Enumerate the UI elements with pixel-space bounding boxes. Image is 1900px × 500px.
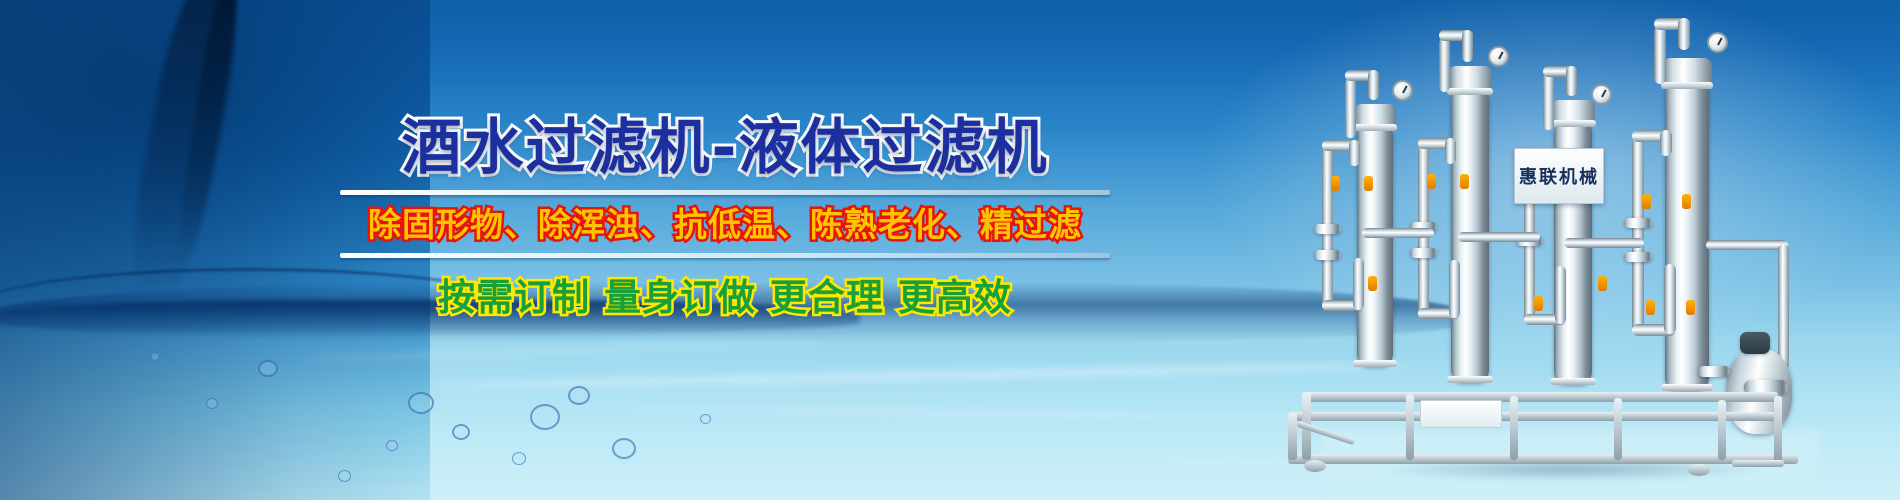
machine-info-label	[1420, 400, 1502, 428]
bubbles-icon	[452, 424, 470, 440]
frame-leg	[1288, 412, 1297, 460]
bubbles-icon	[338, 470, 351, 482]
valve-handle-icon	[1534, 296, 1543, 311]
valve-handle-icon	[1646, 300, 1655, 315]
riser-pipe	[1632, 138, 1644, 286]
tagline-text: 按需订制 量身订做 更合理 更高效	[438, 278, 1012, 319]
caster-wheel	[1304, 460, 1326, 472]
vessel-flange	[1550, 120, 1596, 127]
inlet-pipe	[1462, 30, 1473, 62]
inlet-pipe	[1439, 38, 1450, 92]
valve-handle-icon	[1460, 174, 1469, 189]
bubbles-icon	[512, 452, 526, 465]
pipe-tee	[1314, 224, 1341, 234]
inlet-pipe	[1345, 78, 1356, 138]
pipe-tee	[1624, 218, 1652, 228]
outlet-pipe	[1706, 240, 1788, 250]
riser-pipe	[1418, 146, 1429, 280]
divider-bottom	[340, 253, 1110, 258]
pump-motor	[1740, 332, 1770, 354]
bubbles-icon	[408, 392, 434, 414]
frame-rail-top	[1302, 392, 1778, 402]
gauge-icon	[1488, 46, 1509, 67]
vessel-flange	[1550, 378, 1596, 385]
vessel-flange	[1661, 82, 1713, 89]
filter-vessel	[1357, 126, 1393, 366]
inlet-pipe	[1566, 66, 1577, 96]
u-bend-pipe	[1555, 266, 1566, 324]
valve-handle-icon	[1364, 176, 1373, 191]
bubbles-icon	[206, 398, 218, 409]
cross-pipe	[1458, 232, 1540, 242]
filtration-machine: 惠联机械	[1258, 8, 1858, 488]
gauge-icon	[1392, 80, 1413, 101]
valve-handle-icon	[1427, 174, 1436, 189]
frame-leg	[1614, 398, 1622, 460]
vessel-flange	[1447, 88, 1493, 95]
frame-leg	[1510, 396, 1518, 460]
tagline: 按需订制 量身订做 更合理 更高效	[330, 278, 1120, 319]
inlet-pipe	[1543, 74, 1554, 130]
cross-pipe	[1564, 238, 1644, 248]
valve-handle-icon	[1682, 194, 1691, 209]
pipe-tee	[1314, 250, 1341, 260]
promo-banner: 酒水过滤机-液体过滤机 除固形物、除浑浊、抗低温、陈熟老化、精过滤 按需订制 量…	[0, 0, 1900, 500]
bubbles-icon	[258, 360, 278, 377]
feature-list: 除固形物、除浑浊、抗低温、陈熟老化、精过滤	[330, 207, 1120, 243]
bubbles-icon	[612, 438, 636, 459]
vessel-flange	[1661, 384, 1713, 391]
u-bend-pipe	[1449, 260, 1460, 318]
riser-pipe	[1349, 140, 1360, 166]
riser-pipe	[1445, 138, 1456, 164]
frame-foot	[1732, 460, 1784, 467]
inlet-pipe	[1678, 18, 1690, 50]
vessel-flange	[1353, 124, 1397, 131]
feature-list-text: 除固形物、除浑浊、抗低温、陈熟老化、精过滤	[368, 207, 1082, 243]
bubbles-icon	[150, 352, 160, 361]
inlet-pipe	[1654, 26, 1666, 84]
frame-leg	[1406, 394, 1414, 460]
pipe-tee	[1410, 248, 1437, 258]
bubbles-icon	[568, 386, 590, 405]
outlet-pipe	[1778, 244, 1789, 370]
page-title-text: 酒水过滤机-液体过滤机	[402, 118, 1049, 178]
pump-inlet	[1698, 366, 1730, 377]
vessel-flange	[1447, 376, 1493, 383]
u-bend-pipe	[1353, 258, 1364, 310]
filter-vessel	[1665, 84, 1709, 390]
frame-rail-front	[1288, 412, 1782, 421]
gauge-icon	[1707, 32, 1728, 53]
vessel-flange	[1353, 360, 1397, 367]
headline-block: 酒水过滤机-液体过滤机 除固形物、除浑浊、抗低温、陈熟老化、精过滤 按需订制 量…	[330, 118, 1120, 319]
machine-brand-sign-text: 惠联机械	[1519, 163, 1599, 189]
u-bend-pipe	[1664, 264, 1676, 334]
valve-handle-icon	[1686, 300, 1695, 315]
cross-pipe	[1362, 228, 1434, 238]
machine-brand-sign: 惠联机械	[1514, 148, 1604, 204]
frame-leg	[1718, 400, 1726, 460]
valve-handle-icon	[1368, 276, 1377, 291]
gauge-icon	[1591, 84, 1612, 105]
valve-handle-icon	[1642, 194, 1651, 209]
page-title: 酒水过滤机-液体过滤机	[330, 118, 1120, 178]
valve-handle-icon	[1331, 176, 1340, 191]
inlet-pipe	[1368, 70, 1379, 100]
bubbles-icon	[386, 440, 398, 451]
bubbles-icon	[530, 404, 560, 430]
riser-pipe	[1660, 130, 1672, 156]
pipe-tee	[1624, 252, 1652, 262]
divider-top	[340, 190, 1110, 195]
frame-leg	[1774, 396, 1782, 462]
valve-handle-icon	[1598, 276, 1607, 291]
bubbles-icon	[700, 414, 711, 424]
caster-wheel	[1688, 464, 1710, 476]
